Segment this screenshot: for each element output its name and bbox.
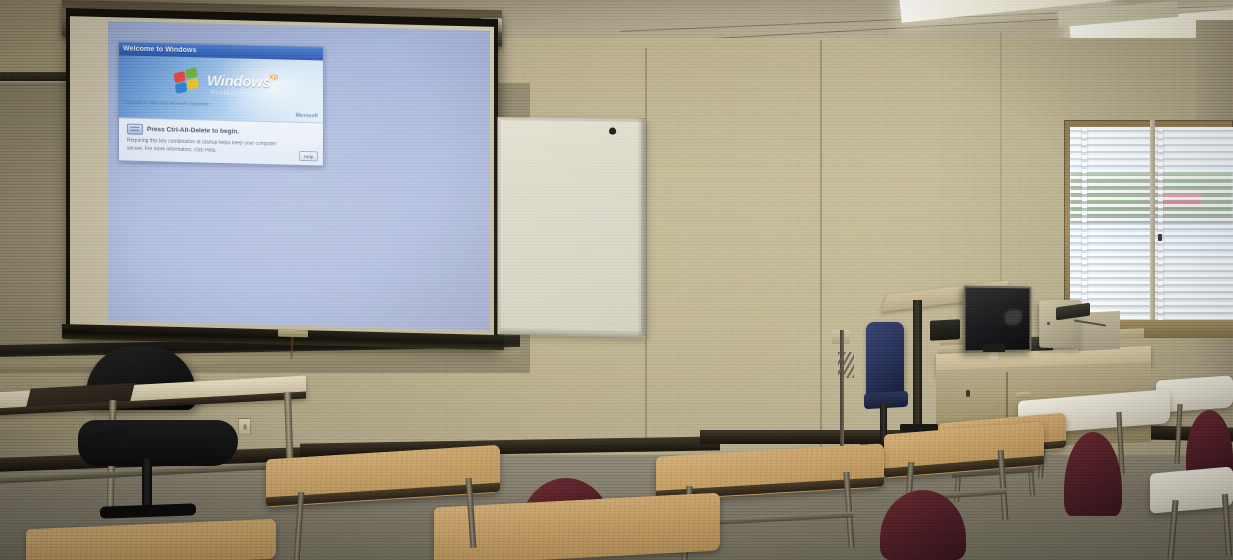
blind-ladder-tape — [1158, 127, 1163, 320]
projected-image: Welcome to Windows Windows xp Profession… — [108, 21, 490, 331]
login-instruction: Press Ctrl-Alt-Delete to begin. — [147, 126, 239, 135]
blind-cord-lock[interactable] — [1158, 234, 1162, 241]
black-chair-post — [142, 458, 152, 510]
electrical-outlet — [238, 418, 251, 435]
computer-monitor[interactable] — [963, 285, 1031, 352]
window-mullion — [1150, 120, 1155, 338]
whiteboard-clip-icon — [609, 127, 616, 134]
windows-flag-icon — [174, 67, 203, 97]
mouse[interactable] — [988, 352, 999, 359]
whiteboard-surface — [500, 120, 641, 332]
ctrl-alt-delete-row: Press Ctrl-Alt-Delete to begin. — [127, 124, 239, 138]
microsoft-brand: Microsoft — [296, 113, 319, 120]
whiteboard-edge-shadow — [637, 118, 645, 336]
projection-screen[interactable]: Welcome to Windows Windows xp Profession… — [66, 8, 498, 349]
windows-xp-suffix: xp — [269, 72, 278, 81]
equipment-pole — [840, 330, 844, 448]
wall-seam — [820, 40, 822, 450]
windows-xp-welcome-dialog[interactable]: Welcome to Windows Windows xp Profession… — [118, 41, 324, 166]
black-chair-seat[interactable] — [78, 420, 238, 466]
windows-xp-banner: Windows xp Professional Copyright © 1985… — [119, 55, 323, 122]
lectern-column — [913, 300, 922, 430]
student-desk-top[interactable] — [1150, 466, 1233, 513]
whiteboard[interactable] — [498, 117, 646, 338]
windows-edition-label: Professional — [211, 90, 256, 98]
keyboard-icon — [127, 124, 143, 135]
dialog-title: Welcome to Windows — [123, 45, 197, 54]
copyright-text: Copyright © 1985-2001 Microsoft Corporat… — [125, 99, 210, 107]
projector-button[interactable] — [1047, 322, 1050, 325]
classroom-photo: Welcome to Windows Windows xp Profession… — [0, 0, 1233, 560]
blind-ladder-tape — [1082, 127, 1087, 320]
monitor-stand — [983, 344, 1005, 352]
windows-wordmark: Windows — [207, 73, 271, 92]
blue-office-chair[interactable] — [866, 322, 904, 400]
monitor-reflection — [1005, 310, 1022, 325]
teacher-desk-knob[interactable] — [966, 390, 970, 397]
cable-bundle — [838, 352, 854, 378]
dialog-body: Press Ctrl-Alt-Delete to begin. Requirin… — [119, 117, 323, 165]
help-button[interactable]: Help — [299, 151, 318, 161]
overhead-projector-base — [1078, 311, 1120, 351]
av-equipment-box — [930, 319, 960, 341]
help-description: Requiring this key combination at startu… — [127, 138, 293, 157]
